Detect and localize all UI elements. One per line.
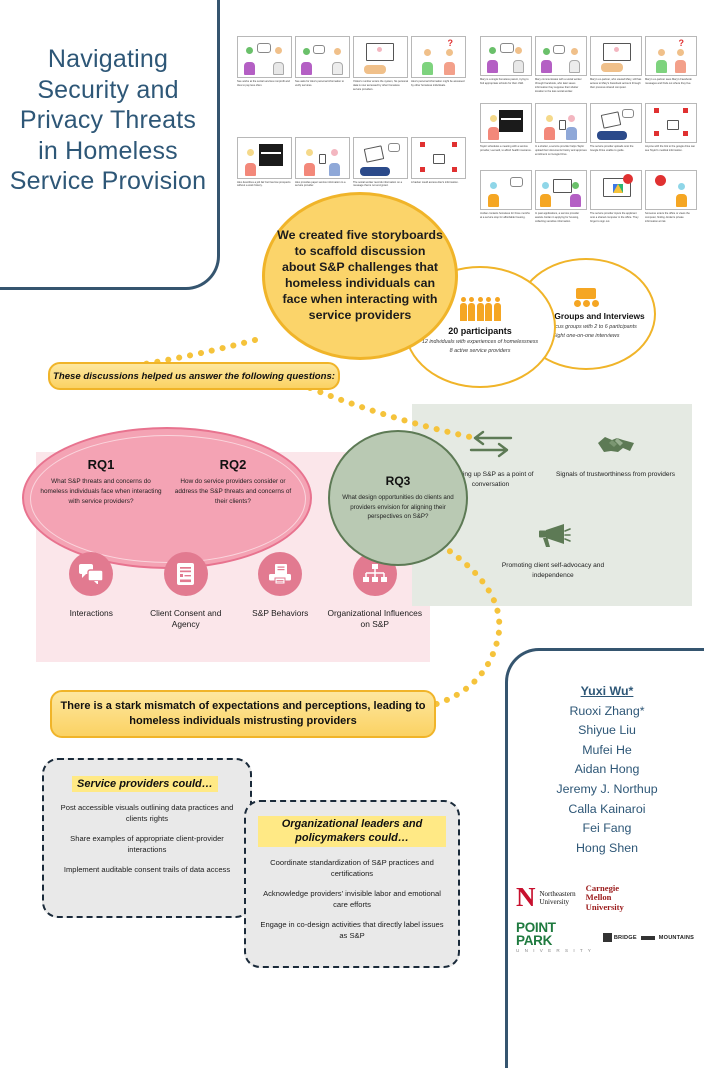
rq1-id: RQ1 [38,457,164,472]
rq3-text: What design opportunities do clients and… [342,493,454,522]
storyboard-panel: Taylor schedules a meeting with a servic… [480,103,532,167]
storyboard-panel: In a shelter, a service provider helps T… [535,103,587,167]
logo-row-1: N Northeastern University Carnegie Mello… [516,884,696,912]
chat-bubbles-icon [69,552,113,596]
storyboard-panel: Mary is a single homeless parent, trying… [480,36,532,100]
author-name: Hong Shen [520,839,694,859]
theme-item-behaviors: S&P Behaviors [233,552,328,631]
storyboard-panel: The service provider inputs the applican… [590,170,642,234]
storyboard-illustration [535,103,587,143]
participants-line-1: 12 individuals with experiences of homel… [422,338,538,346]
northeastern-wordmark: Northeastern University [540,890,576,907]
implications-heading-service-providers: Service providers could… [72,776,218,792]
rq3-id: RQ3 [386,474,411,488]
list-item: Engage in co-design activities that dire… [258,919,446,941]
storyboard-panel: Someone enters the office or views the c… [645,170,697,234]
northeastern-n-mark: N [516,887,536,909]
storyboard-illustration [480,170,532,210]
list-item: Share examples of appropriate client-pro… [56,833,238,855]
storyboard-illustration [353,36,408,78]
storyboard-caption: The service provider uploads onto the Go… [590,145,642,167]
storyboard-panel: Sue asks for Alex's personal information… [295,36,350,134]
point-park-line-3: U N I V E R S I T Y [516,948,593,953]
author-name: Jeremy J. Northup [520,780,694,800]
storyboard-illustration [411,137,466,179]
bridge-to-mountains-logo: BRIDGE MOUNTAINS [603,933,694,942]
method-main-text: We created five storyboards to scaffold … [265,228,455,323]
theme-label-interactions: Interactions [70,608,113,619]
rq3-circle: RQ3 What design opportunities do clients… [328,430,468,566]
theme-icon-row: Interactions Client Consent and Agency [44,552,422,631]
storyboard-illustration: ? [411,36,466,78]
northeastern-university-logo: N Northeastern University [516,887,576,909]
implications-heading-wrap-1: Service providers could… [56,774,238,792]
storyboard-illustration [535,36,587,76]
design-opportunity-trust: Signals of trustworthiness from provider… [553,424,678,489]
handshake-icon [596,424,636,464]
questions-banner: These discussions helped us answer the f… [48,362,340,390]
implications-list-service-providers: Post accessible visuals outlining data p… [56,802,238,875]
logo-group: N Northeastern University Carnegie Mello… [516,884,696,963]
storyboard-panel: The service provider uploads onto the Go… [590,103,642,167]
method-storyboards-bubble: We created five storyboards to scaffold … [262,192,458,360]
rq2-text: How do service providers consider or add… [170,477,296,507]
carnegie-mellon-university-logo: Carnegie Mellon University [586,884,624,912]
storyboard-caption: Mary is a single homeless parent, trying… [480,78,532,100]
design-opportunity-label-advocacy: Promoting client self-advocacy and indep… [498,561,608,580]
participants-line-2: 8 active service providers [450,347,511,355]
storyboard-caption: A hacker could access Alex's information… [411,181,466,203]
storyboard-caption: In past applications, a service provider… [535,212,587,234]
storyboard-illustration [237,36,292,78]
participants-title: 20 participants [448,326,512,336]
bridge-line-2: MOUNTAINS [659,935,694,941]
storyboard-block-right: Mary is a single homeless parent, trying… [480,36,697,234]
storyboard-illustration [590,36,642,76]
rq1-block: RQ1 What S&P threats and concerns do hom… [38,457,164,507]
implications-service-providers: Service providers could… Post accessible… [42,758,252,918]
implications-org-leaders: Organizational leaders and policymakers … [244,800,460,968]
storyboard-panel: If Alex's number enters the system, his … [353,36,408,134]
storyboard-illustration [590,170,642,210]
storyboard-gallery: Sue works at the social services nonprof… [237,36,697,234]
rq1-rq2-ellipse: RQ1 What S&P threats and concerns do hom… [22,427,312,569]
storyboard-caption: Someone enters the office or views the c… [645,212,697,234]
storyboard-caption: Alex describes a job fair but has few pr… [237,181,292,203]
storyboard-panel: In past applications, a service provider… [535,170,587,234]
theme-item-consent: Client Consent and Agency [139,552,234,631]
design-opportunities-row-2: Promoting client self-advocacy and indep… [428,515,678,580]
bridge-mark-icon [603,933,612,942]
document-consent-icon [164,552,208,596]
rq2-id: RQ2 [170,457,296,472]
storyboard-illustration [237,137,292,179]
author-name: Shiyue Liu [520,721,694,741]
author-list: Yuxi Wu* Ruoxi Zhang* Shiyue Liu Mufei H… [520,682,694,858]
storyboard-caption: Mary's ex-partner, who viewed Mary, stil… [590,78,642,100]
storyboard-caption: Mary communicates with a social worker t… [535,78,587,100]
rq2-block: RQ2 How do service providers consider or… [170,457,296,507]
storyboard-illustration: ? [645,36,697,76]
point-park-line-2: PARK [516,935,593,948]
storyboard-panel: ?Mary's ex-partner sees Mary's Facebook … [645,36,697,100]
logo-row-2: POINT PARK U N I V E R S I T Y BRIDGE MO… [516,922,696,953]
storyboard-illustration [295,137,350,179]
storyboard-caption: In a shelter, a service provider helps T… [535,145,587,167]
storyboard-illustration [480,103,532,143]
key-finding-banner: There is a stark mismatch of expectation… [50,690,436,738]
author-name: Fei Fang [520,819,694,839]
theme-label-consent: Client Consent and Agency [139,608,234,631]
focus-group-icon [574,288,599,307]
storyboard-panel: Mary's ex-partner, who viewed Mary, stil… [590,36,642,100]
implications-heading-org-leaders: Organizational leaders and policymakers … [258,816,446,847]
people-group-icon [460,303,501,321]
storyboard-caption: Sue works at the social services nonprof… [237,80,292,102]
storyboard-illustration [535,170,587,210]
rq1-text: What S&P threats and concerns do homeles… [38,477,164,507]
storyboard-illustration [645,170,697,210]
storyboard-panel: Jordan contacts homeless for three month… [480,170,532,234]
list-item: Implement auditable consent trails of da… [56,864,238,875]
author-name: Mufei He [520,741,694,761]
storyboard-caption: Anyone with the link to the google drive… [645,145,697,167]
printer-document-icon [258,552,302,596]
bridge-divider [641,936,655,940]
theme-label-behaviors: S&P Behaviors [252,608,308,619]
storyboard-illustration [353,137,408,179]
storyboard-panel: Anyone with the link to the google drive… [645,103,697,167]
two-way-arrows-icon [469,424,513,464]
author-name: Yuxi Wu* [520,682,694,702]
bridge-line-1: BRIDGE [614,935,637,941]
storyboard-panel: ?Alex's personal information might be ac… [411,36,466,134]
point-park-university-logo: POINT PARK U N I V E R S I T Y [516,922,593,953]
storyboard-caption: Mary's ex-partner sees Mary's Facebook m… [645,78,697,100]
list-item: Post accessible visuals outlining data p… [56,802,238,824]
theme-item-interactions: Interactions [44,552,139,631]
questions-banner-text: These discussions helped us answer the f… [53,371,335,382]
theme-label-organizational: Organizational Influences on S&P [328,608,423,631]
storyboard-illustration [645,103,697,143]
storyboard-illustration [480,36,532,76]
storyboard-caption: Taylor schedules a meeting with a servic… [480,145,532,167]
storyboard-panel: Sue works at the social services nonprof… [237,36,292,134]
sessions-line-2: Eight one-on-one interviews [553,332,620,340]
storyboard-caption: Alex's personal information might be acc… [411,80,466,102]
storyboard-illustration [590,103,642,143]
key-finding-text: There is a stark mismatch of expectation… [52,699,434,729]
northeastern-line-1: Northeastern [540,890,576,898]
megaphone-icon [534,515,572,555]
storyboard-caption: The service provider inputs the applican… [590,212,642,234]
northeastern-line-2: University [540,898,570,906]
poster-title: Navigating Security and Privacy Threats … [8,44,208,197]
storyboard-illustration [295,36,350,78]
design-opportunity-advocacy: Promoting client self-advocacy and indep… [498,515,608,580]
author-name: Ruoxi Zhang* [520,702,694,722]
storyboard-panel: Alex describes a job fair but has few pr… [237,137,292,235]
list-item: Coordinate standardization of S&P practi… [258,857,446,879]
author-name: Calla Kainaroi [520,800,694,820]
list-item: Acknowledge providers’ invisible labor a… [258,888,446,910]
design-opportunity-label-trust: Signals of trustworthiness from provider… [556,470,675,480]
storyboard-panel: Mary communicates with a social worker t… [535,36,587,100]
storyboard-caption: Sue asks for Alex's personal information… [295,80,350,102]
implications-heading-wrap-2: Organizational leaders and policymakers … [258,816,446,847]
storyboard-caption: Jordan contacts homeless for three month… [480,212,532,234]
cmu-line-3: University [586,903,624,912]
storyboard-caption: If Alex's number enters the system, his … [353,80,408,102]
implications-list-org-leaders: Coordinate standardization of S&P practi… [258,857,446,941]
author-name: Aidan Hong [520,760,694,780]
